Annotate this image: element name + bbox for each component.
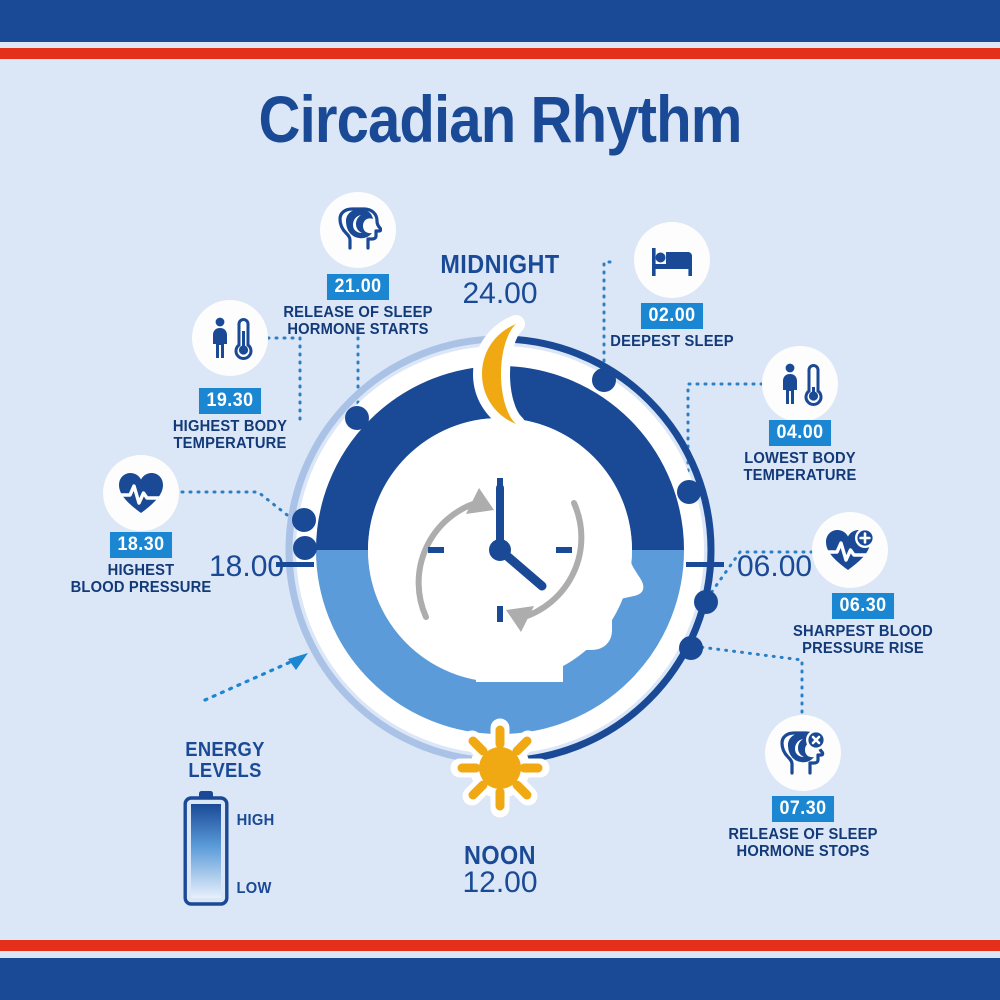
battery-icon	[183, 790, 229, 906]
event-label-line1: RELEASE OF SLEEP	[725, 826, 881, 843]
event-label-line1: LOWEST BODY	[732, 450, 868, 467]
energy-title-line2: LEVELS	[165, 761, 285, 782]
event-label-line1: HIGHEST	[68, 562, 213, 579]
energy-low-label: LOW	[237, 880, 272, 898]
heart-pulse-icon	[103, 455, 179, 531]
page-title: Circadian Rhythm	[60, 86, 940, 152]
noon-time: 12.00	[370, 866, 630, 900]
event-callout-0730: 07.30 RELEASE OF SLEEP HORMONE STOPS	[718, 796, 888, 860]
event-time-badge: 02.00	[641, 303, 703, 329]
event-callout-1830: 18.30 HIGHEST BLOOD PRESSURE	[62, 532, 220, 596]
event-callout-2100: 21.00 RELEASE OF SLEEP HORMONE STARTS	[268, 274, 448, 338]
energy-title-line1: ENERGY	[165, 740, 285, 761]
event-label-line2: PRESSURE RISE	[787, 640, 940, 657]
energy-levels-title: ENERGY LEVELS	[165, 740, 285, 782]
head-moon-stop-icon	[765, 715, 841, 791]
event-time-badge: 21.00	[327, 274, 389, 300]
head-with-moon-icon	[320, 192, 396, 268]
top-blue-band	[0, 0, 1000, 42]
event-time-badge: 04.00	[769, 420, 831, 446]
heart-pulse-plus-icon	[812, 512, 888, 588]
event-time-badge: 18.30	[110, 532, 172, 558]
event-callout-0630: 06.30 SHARPEST BLOOD PRESSURE RISE	[780, 593, 946, 657]
person-thermometer-icon	[762, 346, 838, 422]
sun-icon	[460, 728, 540, 808]
bottom-blue-band	[0, 958, 1000, 1000]
event-callout-1930: 19.30 HIGHEST BODY TEMPERATURE	[155, 388, 305, 452]
event-label-line1: RELEASE OF SLEEP	[275, 304, 441, 321]
clock-center-pin	[489, 539, 511, 561]
event-label-line2: TEMPERATURE	[732, 467, 868, 484]
morning-time-label: 06.00	[737, 550, 812, 584]
event-label-line1: DEEPEST SLEEP	[606, 333, 738, 350]
top-red-band	[0, 48, 1000, 59]
event-callout-0400: 04.00 LOWEST BODY TEMPERATURE	[726, 420, 874, 484]
energy-levels-block: ENERGY LEVELS HIGH LOW	[160, 740, 290, 906]
morning-tick-dash	[686, 562, 724, 567]
event-label-line2: BLOOD PRESSURE	[68, 579, 213, 596]
event-label-line1: HIGHEST BODY	[161, 418, 299, 435]
infographic-canvas: Circadian Rhythm	[0, 0, 1000, 1000]
evening-tick-dash	[276, 562, 314, 567]
event-label-line1: SHARPEST BLOOD	[787, 623, 940, 640]
event-callout-0200: 02.00 DEEPEST SLEEP	[600, 303, 744, 350]
bed-icon	[634, 222, 710, 298]
event-time-badge: 19.30	[199, 388, 261, 414]
circadian-clock	[280, 330, 720, 770]
energy-high-label: HIGH	[237, 812, 275, 830]
bottom-red-band	[0, 940, 1000, 951]
event-label-line2: TEMPERATURE	[161, 435, 299, 452]
event-time-badge: 06.30	[832, 593, 894, 619]
event-label-line2: HORMONE STARTS	[275, 321, 441, 338]
event-label-line2: HORMONE STOPS	[725, 843, 881, 860]
evening-time-label: 18.00	[209, 550, 284, 584]
person-thermometer-icon	[192, 300, 268, 376]
event-time-badge: 07.30	[772, 796, 834, 822]
